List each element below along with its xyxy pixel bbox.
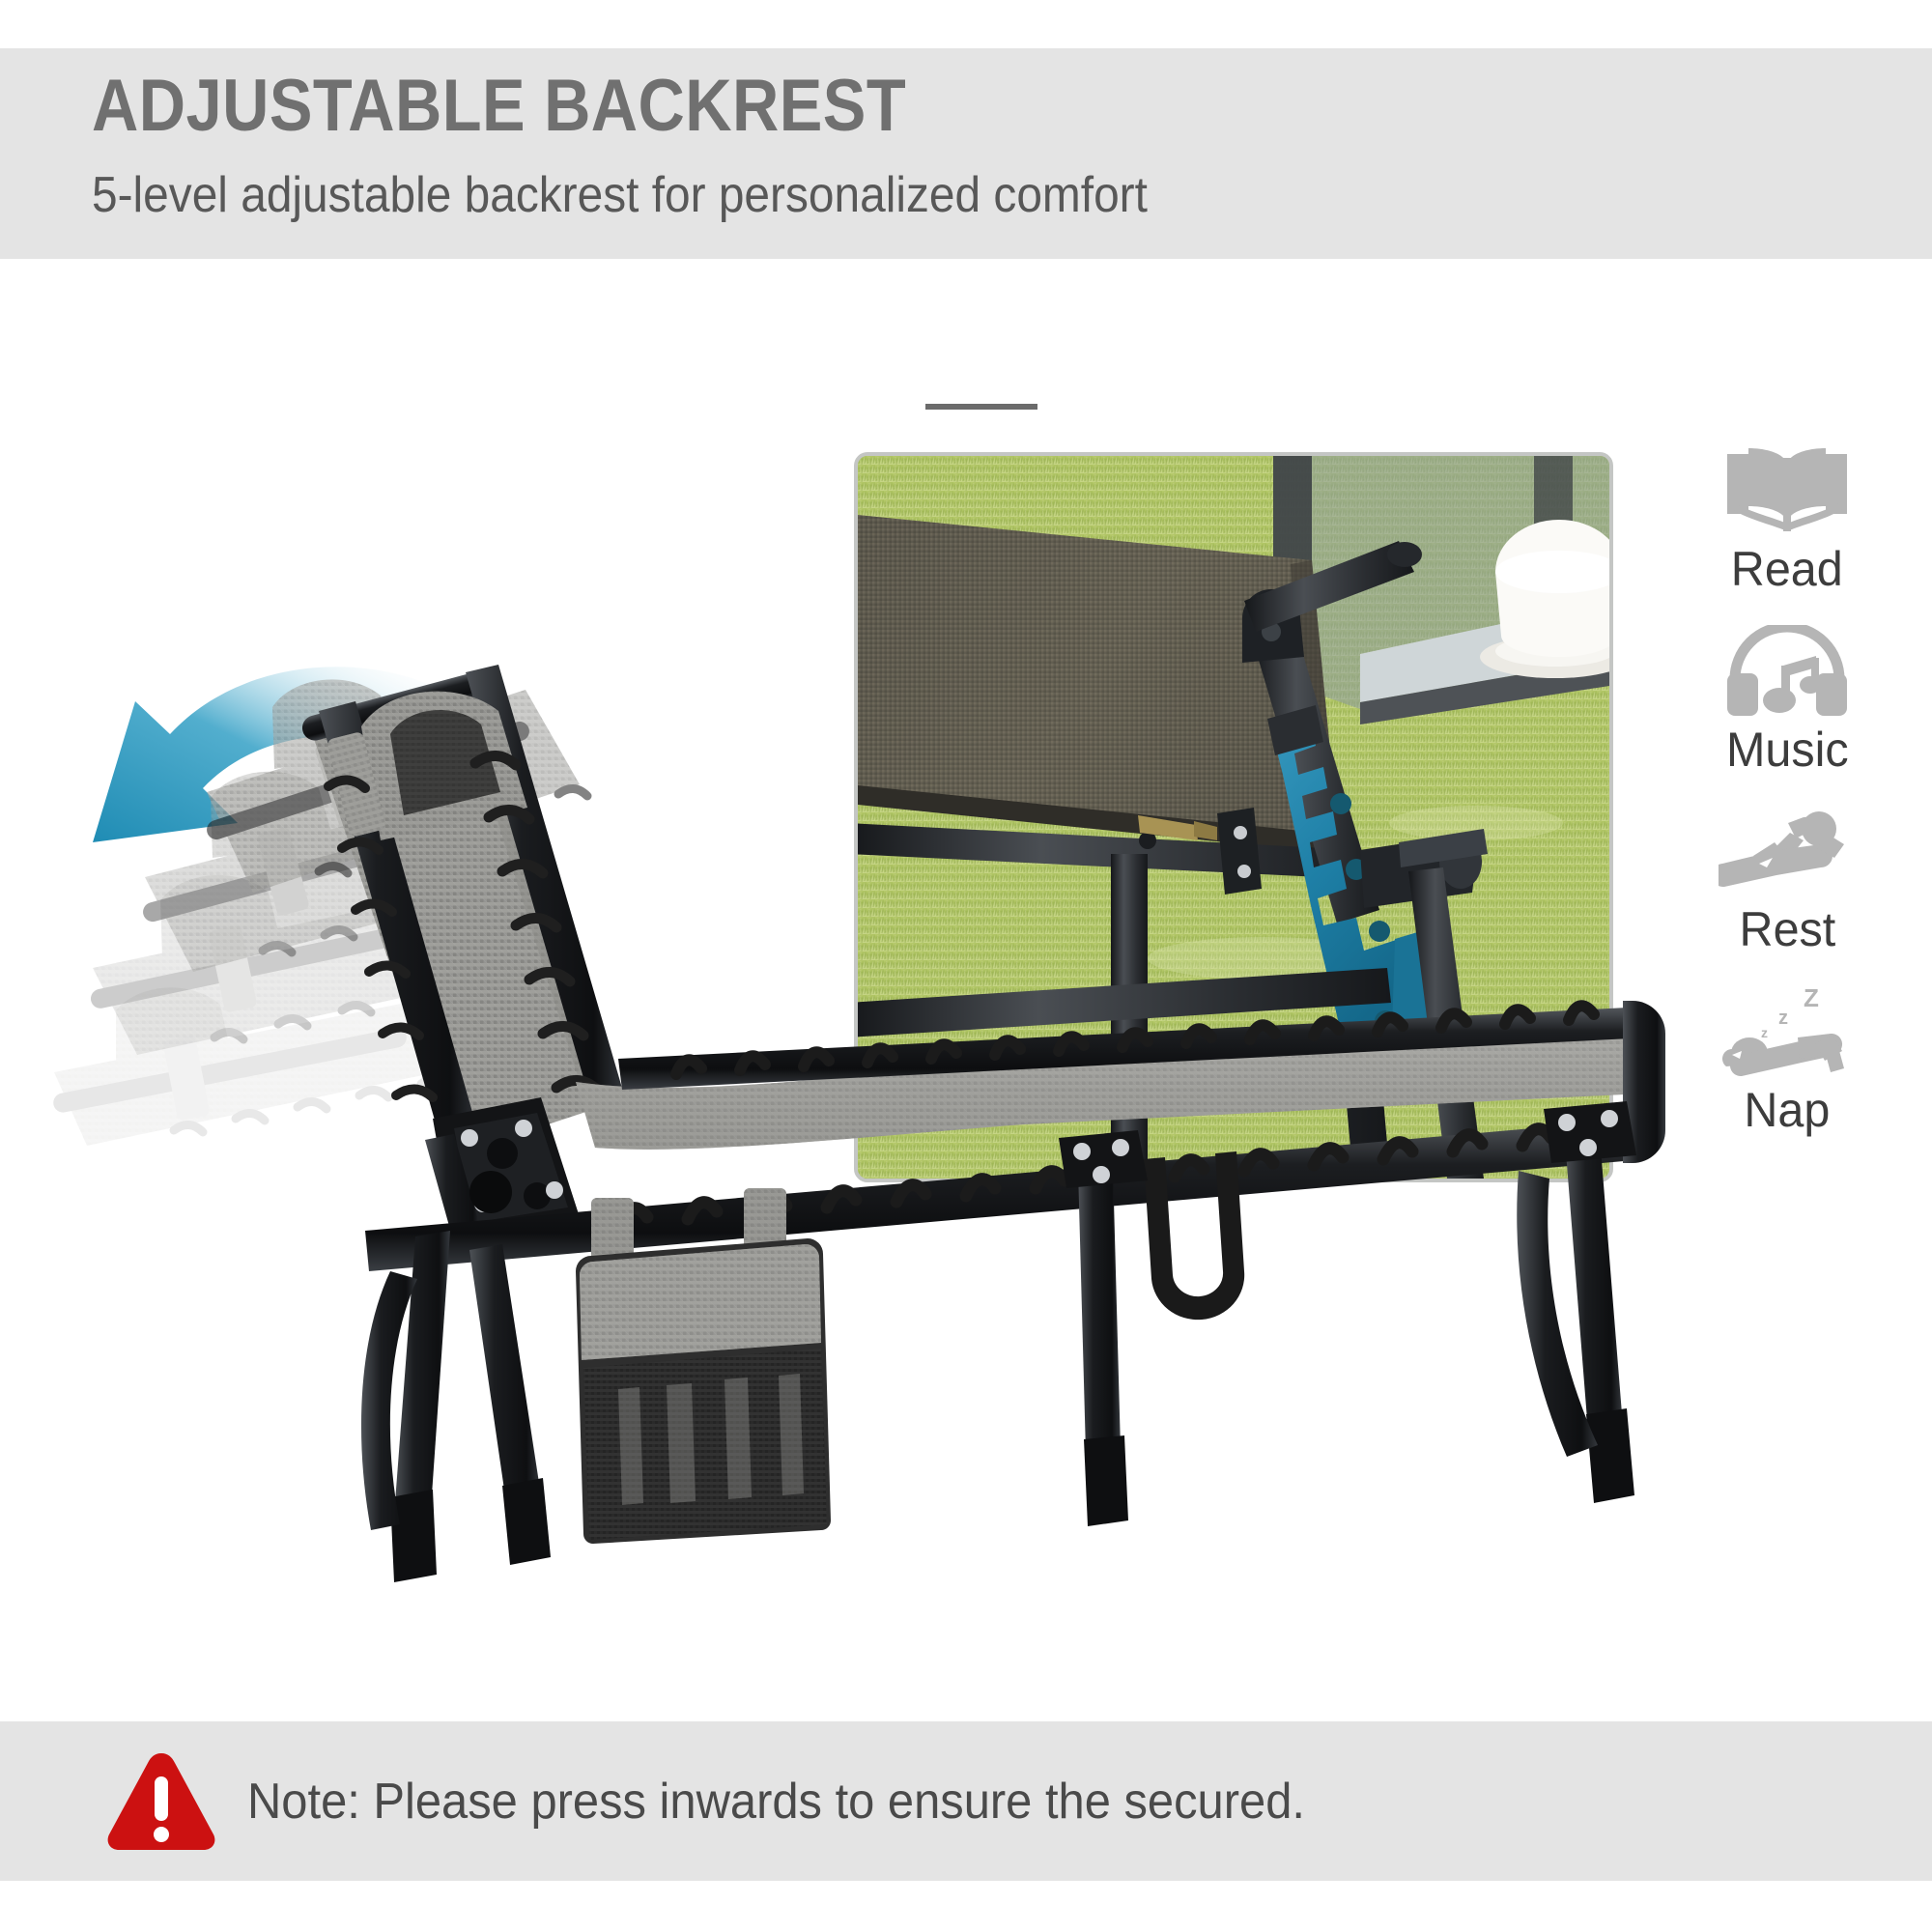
use-case-label: Rest xyxy=(1739,904,1835,955)
person-reclining-icon xyxy=(1715,800,1860,902)
open-book-icon xyxy=(1715,440,1860,542)
use-case-label: Nap xyxy=(1745,1085,1831,1136)
use-case-label: Read xyxy=(1731,544,1843,595)
svg-text:z: z xyxy=(1778,1008,1788,1029)
photo-caption-dash xyxy=(925,404,1037,410)
use-case-label: Music xyxy=(1726,724,1849,776)
person-sleeping-zzz-icon: Z z z xyxy=(1715,980,1860,1083)
headphones-music-note-icon xyxy=(1715,620,1860,723)
page-title: ADJUSTABLE BACKREST xyxy=(92,70,1367,143)
warning-triangle-icon xyxy=(104,1749,218,1854)
svg-text:z: z xyxy=(1761,1025,1768,1040)
page-subtitle: 5-level adjustable backrest for personal… xyxy=(92,170,1603,220)
footer-note: Note: Please press inwards to ensure the… xyxy=(0,1721,1932,1881)
footer-note-text: Note: Please press inwards to ensure the… xyxy=(247,1773,1305,1831)
svg-text:Z: Z xyxy=(1804,983,1819,1012)
lounger-diagram xyxy=(0,618,1700,1719)
use-case-read: Read xyxy=(1642,440,1932,595)
product-illustration xyxy=(0,618,1700,1719)
